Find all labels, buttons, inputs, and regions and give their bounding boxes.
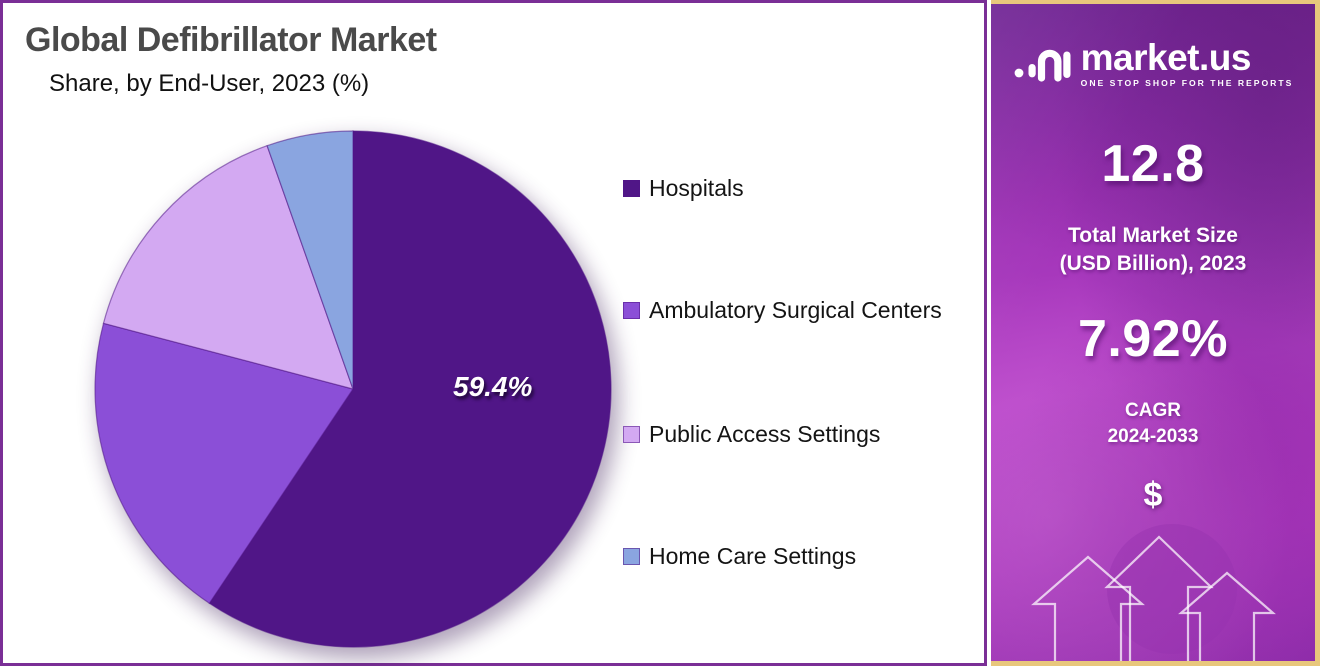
market-size-caption-line2: (USD Billion), 2023 (991, 250, 1315, 278)
stats-side-panel: $ market.us ONE STOP SHOP FOR THE REPORT… (991, 0, 1320, 666)
legend-swatch-icon (623, 426, 640, 443)
chart-panel-inner: Global Defibrillator Market Share, by En… (3, 3, 984, 663)
legend-item-ambulatory-surgical-centers[interactable]: Ambulatory Surgical Centers (623, 299, 942, 322)
legend-swatch-icon (623, 302, 640, 319)
market-size-caption-line1: Total Market Size (991, 222, 1315, 250)
legend-item-label: Home Care Settings (649, 545, 856, 568)
growth-arrows-icon (991, 531, 1320, 661)
legend-swatch-icon (623, 180, 640, 197)
chart-subtitle: Share, by End-User, 2023 (%) (49, 70, 369, 98)
pie-slices-svg (93, 129, 613, 649)
legend-item-home-care-settings[interactable]: Home Care Settings (623, 545, 856, 568)
infographic-root: Global Defibrillator Market Share, by En… (0, 0, 1320, 666)
legend-item-label: Public Access Settings (649, 423, 880, 446)
chart-title: Global Defibrillator Market (25, 21, 437, 60)
market-size-caption: Total Market Size (USD Billion), 2023 (991, 222, 1315, 279)
pie-slice-label-hospitals: 59.4% (453, 371, 532, 403)
logo-tagline: ONE STOP SHOP FOR THE REPORTS (1081, 78, 1294, 88)
cagr-caption: CAGR 2024-2033 (991, 398, 1315, 449)
cagr-value: 7.92% (991, 309, 1315, 369)
market-size-value: 12.8 (991, 134, 1315, 194)
cagr-caption-line2: 2024-2033 (991, 424, 1315, 450)
market-us-logo: market.us ONE STOP SHOP FOR THE REPORTS (991, 40, 1315, 88)
legend-item-label: Hospitals (649, 177, 744, 200)
legend-swatch-icon (623, 548, 640, 565)
logo-wordmark: market.us (1081, 40, 1251, 75)
dollar-sign-icon: $ (991, 476, 1315, 515)
logo-text-wrap: market.us ONE STOP SHOP FOR THE REPORTS (1081, 40, 1294, 88)
market-us-logo-icon (1013, 43, 1071, 85)
legend-item-public-access-settings[interactable]: Public Access Settings (623, 423, 880, 446)
pie-chart: 59.4% (93, 129, 613, 649)
chart-panel: Global Defibrillator Market Share, by En… (0, 0, 987, 666)
legend-item-hospitals[interactable]: Hospitals (623, 177, 744, 200)
cagr-caption-line1: CAGR (991, 398, 1315, 424)
legend-item-label: Ambulatory Surgical Centers (649, 299, 942, 322)
